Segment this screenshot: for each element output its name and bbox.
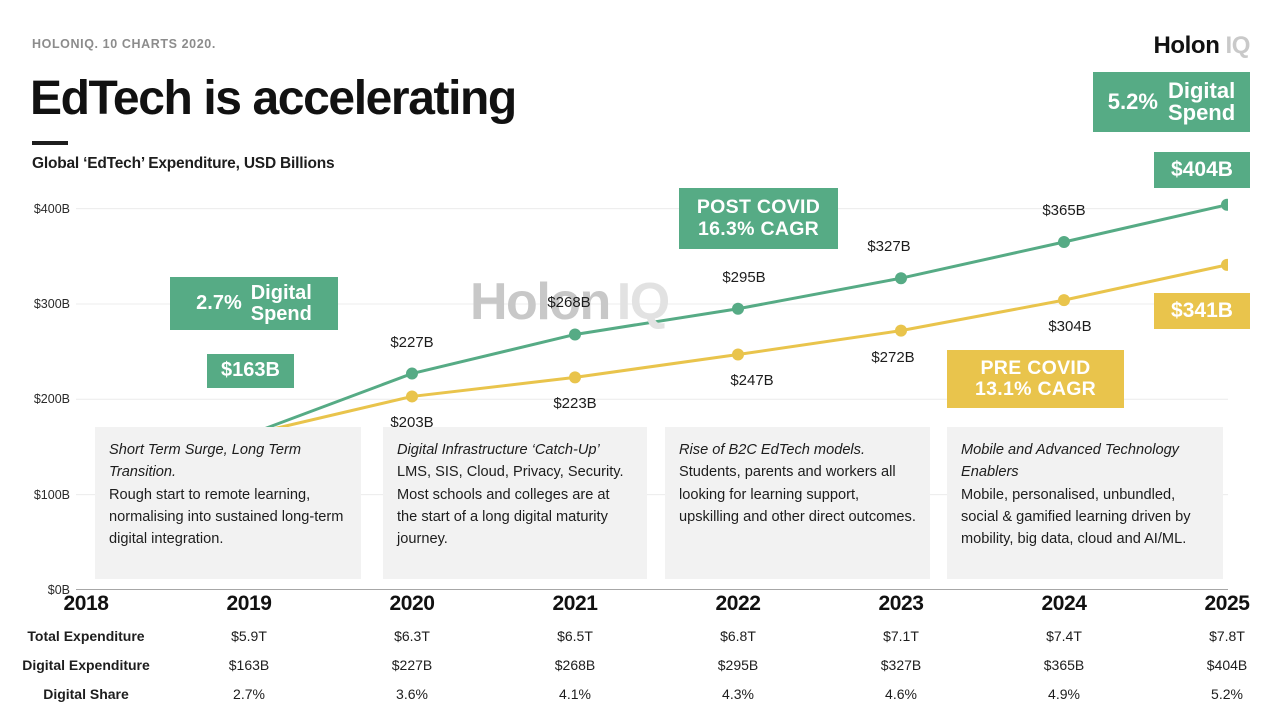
- badge-pre-covid-cagr: PRE COVID 13.1% CAGR: [947, 350, 1124, 408]
- note-box: Mobile and Advanced Technology Enablers …: [947, 427, 1223, 579]
- table-year-header: 2018: [63, 592, 108, 616]
- table-year-header: 2019: [226, 592, 271, 616]
- table-row: Total Expenditure$5.9T$6.3T$6.5T$6.8T$7.…: [0, 626, 1280, 655]
- logo-iq-text: IQ: [1225, 32, 1250, 59]
- table-cell: 2.7%: [233, 686, 265, 702]
- table-cell: $268B: [555, 657, 595, 673]
- note-body: Students, parents and workers all lookin…: [679, 461, 916, 528]
- table-cell: 4.6%: [885, 686, 917, 702]
- table-year-header: 2022: [715, 592, 760, 616]
- note-body: LMS, SIS, Cloud, Privacy, Security. Most…: [397, 461, 633, 550]
- table-cell: $327B: [881, 657, 921, 673]
- table-year-header: 2023: [878, 592, 923, 616]
- table-cell: $6.5T: [557, 628, 593, 644]
- y-axis-tick-label: $300B: [34, 297, 70, 311]
- badge-value-163b: $163B: [207, 354, 294, 388]
- table-row: Digital Share2.7%3.6%4.1%4.3%4.6%4.9%5.2…: [0, 684, 1280, 713]
- page-title: EdTech is accelerating: [30, 74, 516, 124]
- data-label-post-covid: $365B: [1042, 202, 1085, 219]
- note-heading: Rise of B2C EdTech models.: [679, 439, 916, 461]
- table-row-label: Digital Share: [43, 686, 129, 702]
- badge-left-label: Digital Spend: [251, 283, 312, 324]
- chart-subtitle: Global ‘EdTech’ Expenditure, USD Billion…: [32, 155, 334, 173]
- table-cell: $7.8T: [1209, 628, 1245, 644]
- holoniq-logo: HolonIQ: [1153, 32, 1250, 60]
- table-year-header: 2024: [1041, 592, 1086, 616]
- table-year-header: 2021: [552, 592, 597, 616]
- data-label-pre-covid: $247B: [730, 372, 773, 389]
- y-axis-tick-label: $400B: [34, 202, 70, 216]
- table-cell: $295B: [718, 657, 758, 673]
- table-year-header: 2020: [389, 592, 434, 616]
- table-cell: 4.3%: [722, 686, 754, 702]
- data-label-pre-covid: $304B: [1048, 318, 1091, 335]
- badge-left-percent: 2.7%: [196, 293, 242, 315]
- data-label-pre-covid: $272B: [871, 349, 914, 366]
- badge-value-341b: $341B: [1154, 293, 1250, 329]
- table-row-label: Digital Expenditure: [22, 657, 150, 673]
- kicker-label: HOLONIQ. 10 CHARTS 2020.: [32, 37, 216, 51]
- data-label-post-covid: $327B: [867, 238, 910, 255]
- table-cell: $5.9T: [231, 628, 267, 644]
- table-cell: $7.4T: [1046, 628, 1082, 644]
- note-body: Rough start to remote learning, normalis…: [109, 484, 347, 551]
- data-label-pre-covid: $223B: [553, 395, 596, 412]
- badge-post-covid-cagr: POST COVID 16.3% CAGR: [679, 188, 838, 249]
- table-cell: 3.6%: [396, 686, 428, 702]
- note-heading: Mobile and Advanced Technology Enablers: [961, 439, 1209, 484]
- badge-digital-spend-left: 2.7% Digital Spend: [170, 277, 338, 330]
- y-axis: $0B$100B$200B$300B$400B: [0, 180, 70, 590]
- table-row: Digital Expenditure$163B$227B$268B$295B$…: [0, 655, 1280, 684]
- table-cell: $227B: [392, 657, 432, 673]
- data-label-post-covid: $268B: [547, 294, 590, 311]
- y-axis-tick-label: $200B: [34, 392, 70, 406]
- note-box: Digital Infrastructure ‘Catch-Up’ LMS, S…: [383, 427, 647, 579]
- table-cell: $365B: [1044, 657, 1084, 673]
- note-body: Mobile, personalised, unbundled, social …: [961, 484, 1209, 551]
- title-divider: [32, 141, 68, 145]
- badge-digital-spend-right: 5.2% Digital Spend: [1093, 72, 1250, 132]
- table-cell: $6.3T: [394, 628, 430, 644]
- table-header-row: 20182019202020212022202320242025: [0, 592, 1280, 621]
- note-box: Short Term Surge, Long Term Transition. …: [95, 427, 361, 579]
- badge-value-404b: $404B: [1154, 152, 1250, 188]
- table-cell: $404B: [1207, 657, 1247, 673]
- table-cell: $7.1T: [883, 628, 919, 644]
- note-heading: Digital Infrastructure ‘Catch-Up’: [397, 439, 633, 461]
- note-heading: Short Term Surge, Long Term Transition.: [109, 439, 347, 484]
- table-cell: 5.2%: [1211, 686, 1243, 702]
- table-cell: 4.9%: [1048, 686, 1080, 702]
- note-box: Rise of B2C EdTech models. Students, par…: [665, 427, 930, 579]
- table-cell: $163B: [229, 657, 269, 673]
- table-year-header: 2025: [1204, 592, 1249, 616]
- table-cell: 4.1%: [559, 686, 591, 702]
- table-row-label: Total Expenditure: [27, 628, 144, 644]
- table-cell: $6.8T: [720, 628, 756, 644]
- data-label-post-covid: $295B: [722, 269, 765, 286]
- logo-holon-text: Holon: [1153, 32, 1219, 59]
- y-axis-tick-label: $100B: [34, 488, 70, 502]
- summary-table: 20182019202020212022202320242025Total Ex…: [0, 592, 1280, 720]
- data-label-post-covid: $227B: [390, 334, 433, 351]
- badge-right-label: Digital Spend: [1168, 80, 1235, 125]
- badge-right-percent: 5.2%: [1108, 90, 1158, 114]
